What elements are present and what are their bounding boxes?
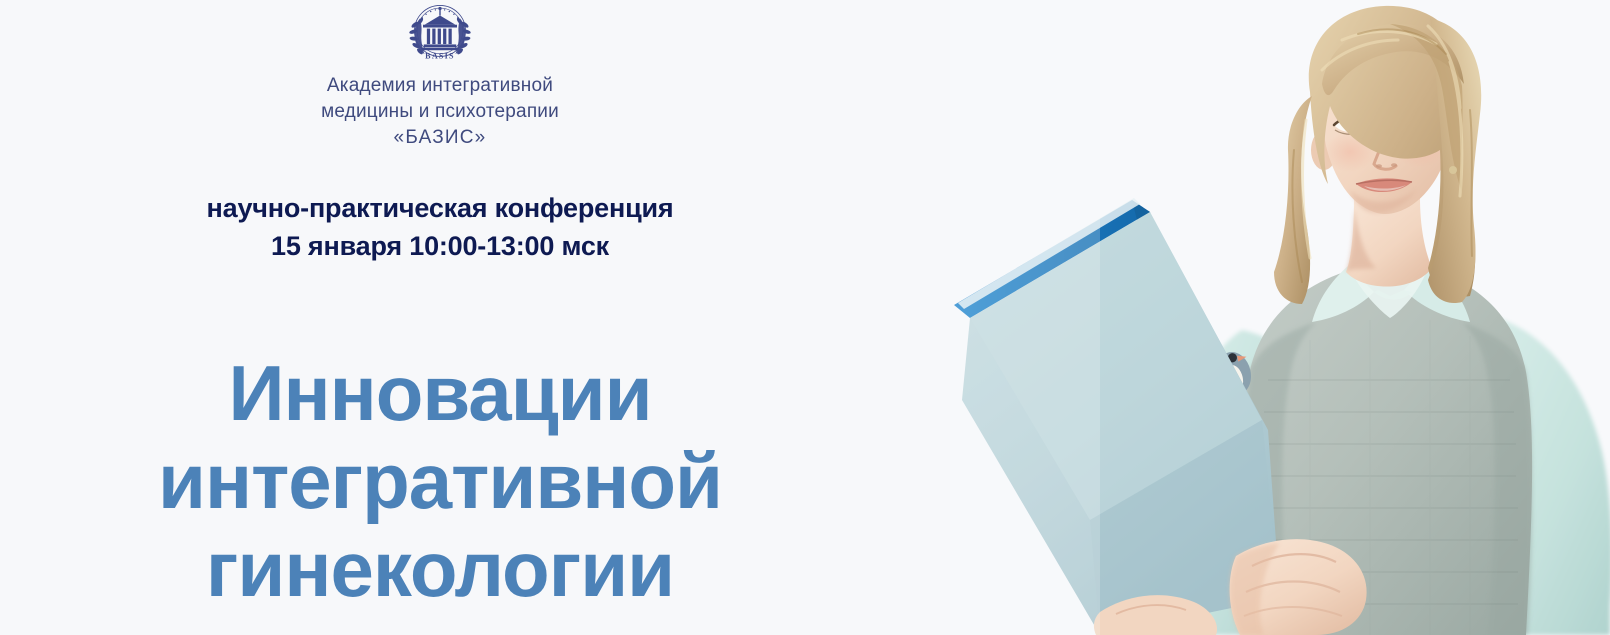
academy-logo-line-1: Академия интегративной	[0, 73, 880, 99]
academy-logo-line-2: медицины и психотерапии	[0, 99, 880, 125]
page-title-line-1: Инновации	[0, 349, 880, 437]
basis-academy-emblem-icon: BASIS	[401, 0, 479, 68]
conference-datetime-label: 15 января 10:00-13:00 мск	[0, 227, 880, 265]
page-title-line-3: гинекологии	[0, 525, 880, 613]
conference-banner: BASIS Академия интегративной медицины и …	[0, 0, 1610, 635]
page-title-line-2: интегративной	[0, 437, 880, 525]
conference-kicker: научно-практическая конференция 15 январ…	[0, 189, 880, 265]
academy-logo-text: Академия интегративной медицины и психот…	[0, 73, 880, 151]
page-title: Инновации интегративной гинекологии	[0, 349, 880, 613]
speaker-photo	[950, 0, 1610, 635]
emblem-basis-text: BASIS	[425, 52, 455, 61]
hand-right	[1230, 539, 1367, 635]
speaker-photo-illustration	[950, 0, 1610, 635]
academy-logo-line-3: «БАЗИС»	[0, 125, 880, 151]
earring-right	[1449, 166, 1457, 174]
conference-type-label: научно-практическая конференция	[0, 189, 880, 227]
academy-logo: BASIS Академия интегративной медицины и …	[0, 0, 880, 151]
text-column: BASIS Академия интегративной медицины и …	[0, 0, 880, 635]
